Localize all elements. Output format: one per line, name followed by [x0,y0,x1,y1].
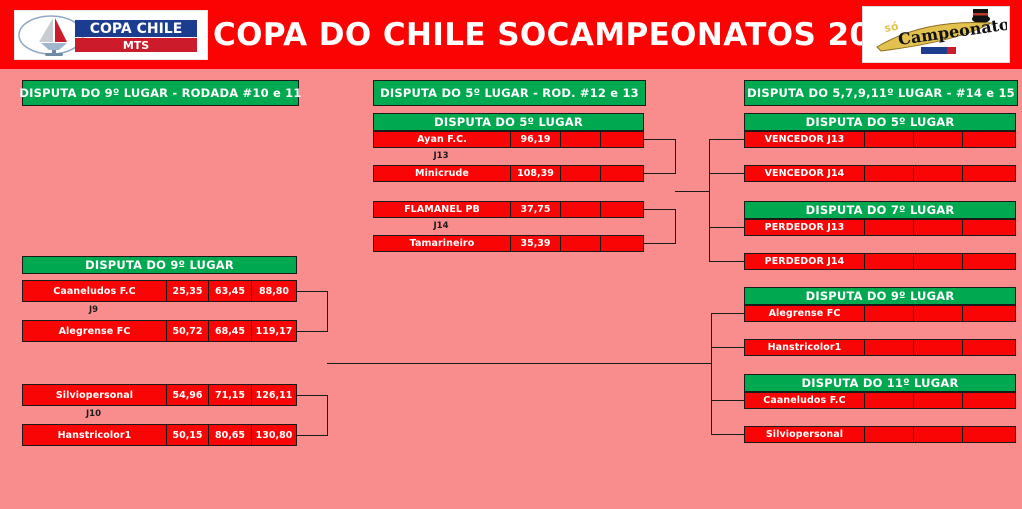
team-score: 80,65 [208,425,251,445]
team-score [600,202,642,217]
connector [644,139,675,140]
team-name: VENCEDOR J13 [745,132,864,147]
svg-text:MTS: MTS [123,39,149,52]
team-score [864,166,913,181]
team-name: Hanstricolor1 [745,340,864,355]
table-row[interactable]: FLAMANEL PB 37,75 [373,201,644,218]
team-score: 35,39 [510,236,560,251]
team-score [962,132,1015,147]
connector [711,313,712,435]
team-score [913,306,962,321]
team-score [864,393,913,408]
connector [711,400,744,401]
team-score [962,427,1015,442]
connector [297,435,327,436]
team-score [864,340,913,355]
team-name: Ayan F.C. [374,132,510,147]
team-score: 71,15 [208,385,251,405]
table-row[interactable]: Ayan F.C. 96,19 [373,131,644,148]
team-score [962,220,1015,235]
team-score [913,220,962,235]
team-name: VENCEDOR J14 [745,166,864,181]
team-score [913,427,962,442]
team-name: Hanstricolor1 [23,425,166,445]
connector [709,139,710,261]
team-score [600,166,642,181]
team-score: 50,72 [166,321,208,341]
group-title-right-7th: DISPUTA DO 7º LUGAR [744,201,1016,219]
connector [644,173,675,174]
team-score: 37,75 [510,202,560,217]
connector [327,363,711,364]
connector [675,191,709,192]
table-row[interactable]: Silviopersonal 54,96 71,15 126,11 [22,384,297,406]
connector [711,434,744,435]
team-name: PERDEDOR J13 [745,220,864,235]
team-score [913,340,962,355]
team-score [560,236,600,251]
connector [709,139,744,140]
team-score: 68,45 [208,321,251,341]
table-row[interactable]: Caaneludos F.C 25,35 63,45 88,80 [22,280,297,302]
table-row[interactable]: Hanstricolor1 [744,339,1016,356]
match-code: J10 [22,408,165,420]
svg-text:COPA CHILE: COPA CHILE [90,21,183,37]
connector [709,261,744,262]
table-row[interactable]: Tamarineiro 35,39 [373,235,644,252]
team-name: Silviopersonal [23,385,166,405]
connector [327,291,328,332]
team-score [913,132,962,147]
team-score [962,254,1015,269]
team-name: Alegrense FC [23,321,166,341]
team-score [913,166,962,181]
team-score: 108,39 [510,166,560,181]
team-score [560,202,600,217]
page-title: COPA DO CHILE SOCAMPEONATOS 2021 [213,12,853,58]
team-score [864,132,913,147]
table-row[interactable]: Alegrense FC 50,72 68,45 119,17 [22,320,297,342]
team-name: Caaneludos F.C [23,281,166,301]
team-score [864,220,913,235]
team-score [560,166,600,181]
group-title-right-11th: DISPUTA DO 11º LUGAR [744,374,1016,392]
connector [297,331,327,332]
svg-text:Campeonatos: Campeonatos [897,13,1007,49]
table-row[interactable]: Minicrude 108,39 [373,165,644,182]
team-score [864,306,913,321]
team-score: 63,45 [208,281,251,301]
group-title-right-9th: DISPUTA DO 9º LUGAR [744,287,1016,305]
team-score [864,254,913,269]
table-row[interactable]: PERDEDOR J14 [744,253,1016,270]
team-score [962,340,1015,355]
team-score: 25,35 [166,281,208,301]
round-header-middle: DISPUTA DO 5º LUGAR - ROD. #12 e 13 [373,80,646,106]
team-score: 54,96 [166,385,208,405]
table-row[interactable]: Hanstricolor1 50,15 80,65 130,80 [22,424,297,446]
team-score [962,166,1015,181]
team-score [962,393,1015,408]
connector [675,139,676,174]
connector [644,243,675,244]
team-score [560,132,600,147]
connector [709,173,744,174]
connector [711,313,744,314]
team-score: 126,11 [251,385,296,405]
team-score: 88,80 [251,281,296,301]
connector [327,395,328,436]
table-row[interactable]: Silviopersonal [744,426,1016,443]
team-score: 130,80 [251,425,296,445]
round-header-left: DISPUTA DO 9º LUGAR - RODADA #10 e 11 [22,80,299,106]
group-title-left-9th: DISPUTA DO 9º LUGAR [22,256,297,274]
team-name: Minicrude [374,166,510,181]
match-code: J9 [22,304,165,316]
group-title-right-5th: DISPUTA DO 5º LUGAR [744,113,1016,131]
team-name: FLAMANEL PB [374,202,510,217]
team-score: 50,15 [166,425,208,445]
connector [297,291,327,292]
group-title-mid-5th: DISPUTA DO 5º LUGAR [373,113,644,131]
socampeonatos-logo: só Campeonatos [862,6,1010,63]
table-row[interactable]: Caaneludos F.C [744,392,1016,409]
team-score [913,393,962,408]
team-score [600,236,642,251]
team-name: Tamarineiro [374,236,510,251]
table-row[interactable]: Alegrense FC [744,305,1016,322]
round-header-right: DISPUTA DO 5,7,9,11º LUGAR - #14 e 15 [744,80,1018,106]
team-score: 119,17 [251,321,296,341]
table-row[interactable]: VENCEDOR J14 [744,165,1016,182]
connector [644,209,675,210]
team-name: Silviopersonal [745,427,864,442]
copa-chile-mts-logo: COPA CHILE MTS [14,10,208,60]
team-name: PERDEDOR J14 [745,254,864,269]
team-score: 96,19 [510,132,560,147]
table-row[interactable]: VENCEDOR J13 [744,131,1016,148]
connector [675,209,676,244]
team-score [913,254,962,269]
connector [297,395,327,396]
team-name: Alegrense FC [745,306,864,321]
page-header: COPA CHILE MTS COPA DO CHILE SOCAMPEONAT… [0,0,1022,69]
table-row[interactable]: PERDEDOR J13 [744,219,1016,236]
team-name: Caaneludos F.C [745,393,864,408]
team-score [600,132,642,147]
connector [711,347,744,348]
match-code: J13 [373,150,509,162]
match-code: J14 [373,220,509,232]
team-score [962,306,1015,321]
team-score [864,427,913,442]
connector [709,227,744,228]
